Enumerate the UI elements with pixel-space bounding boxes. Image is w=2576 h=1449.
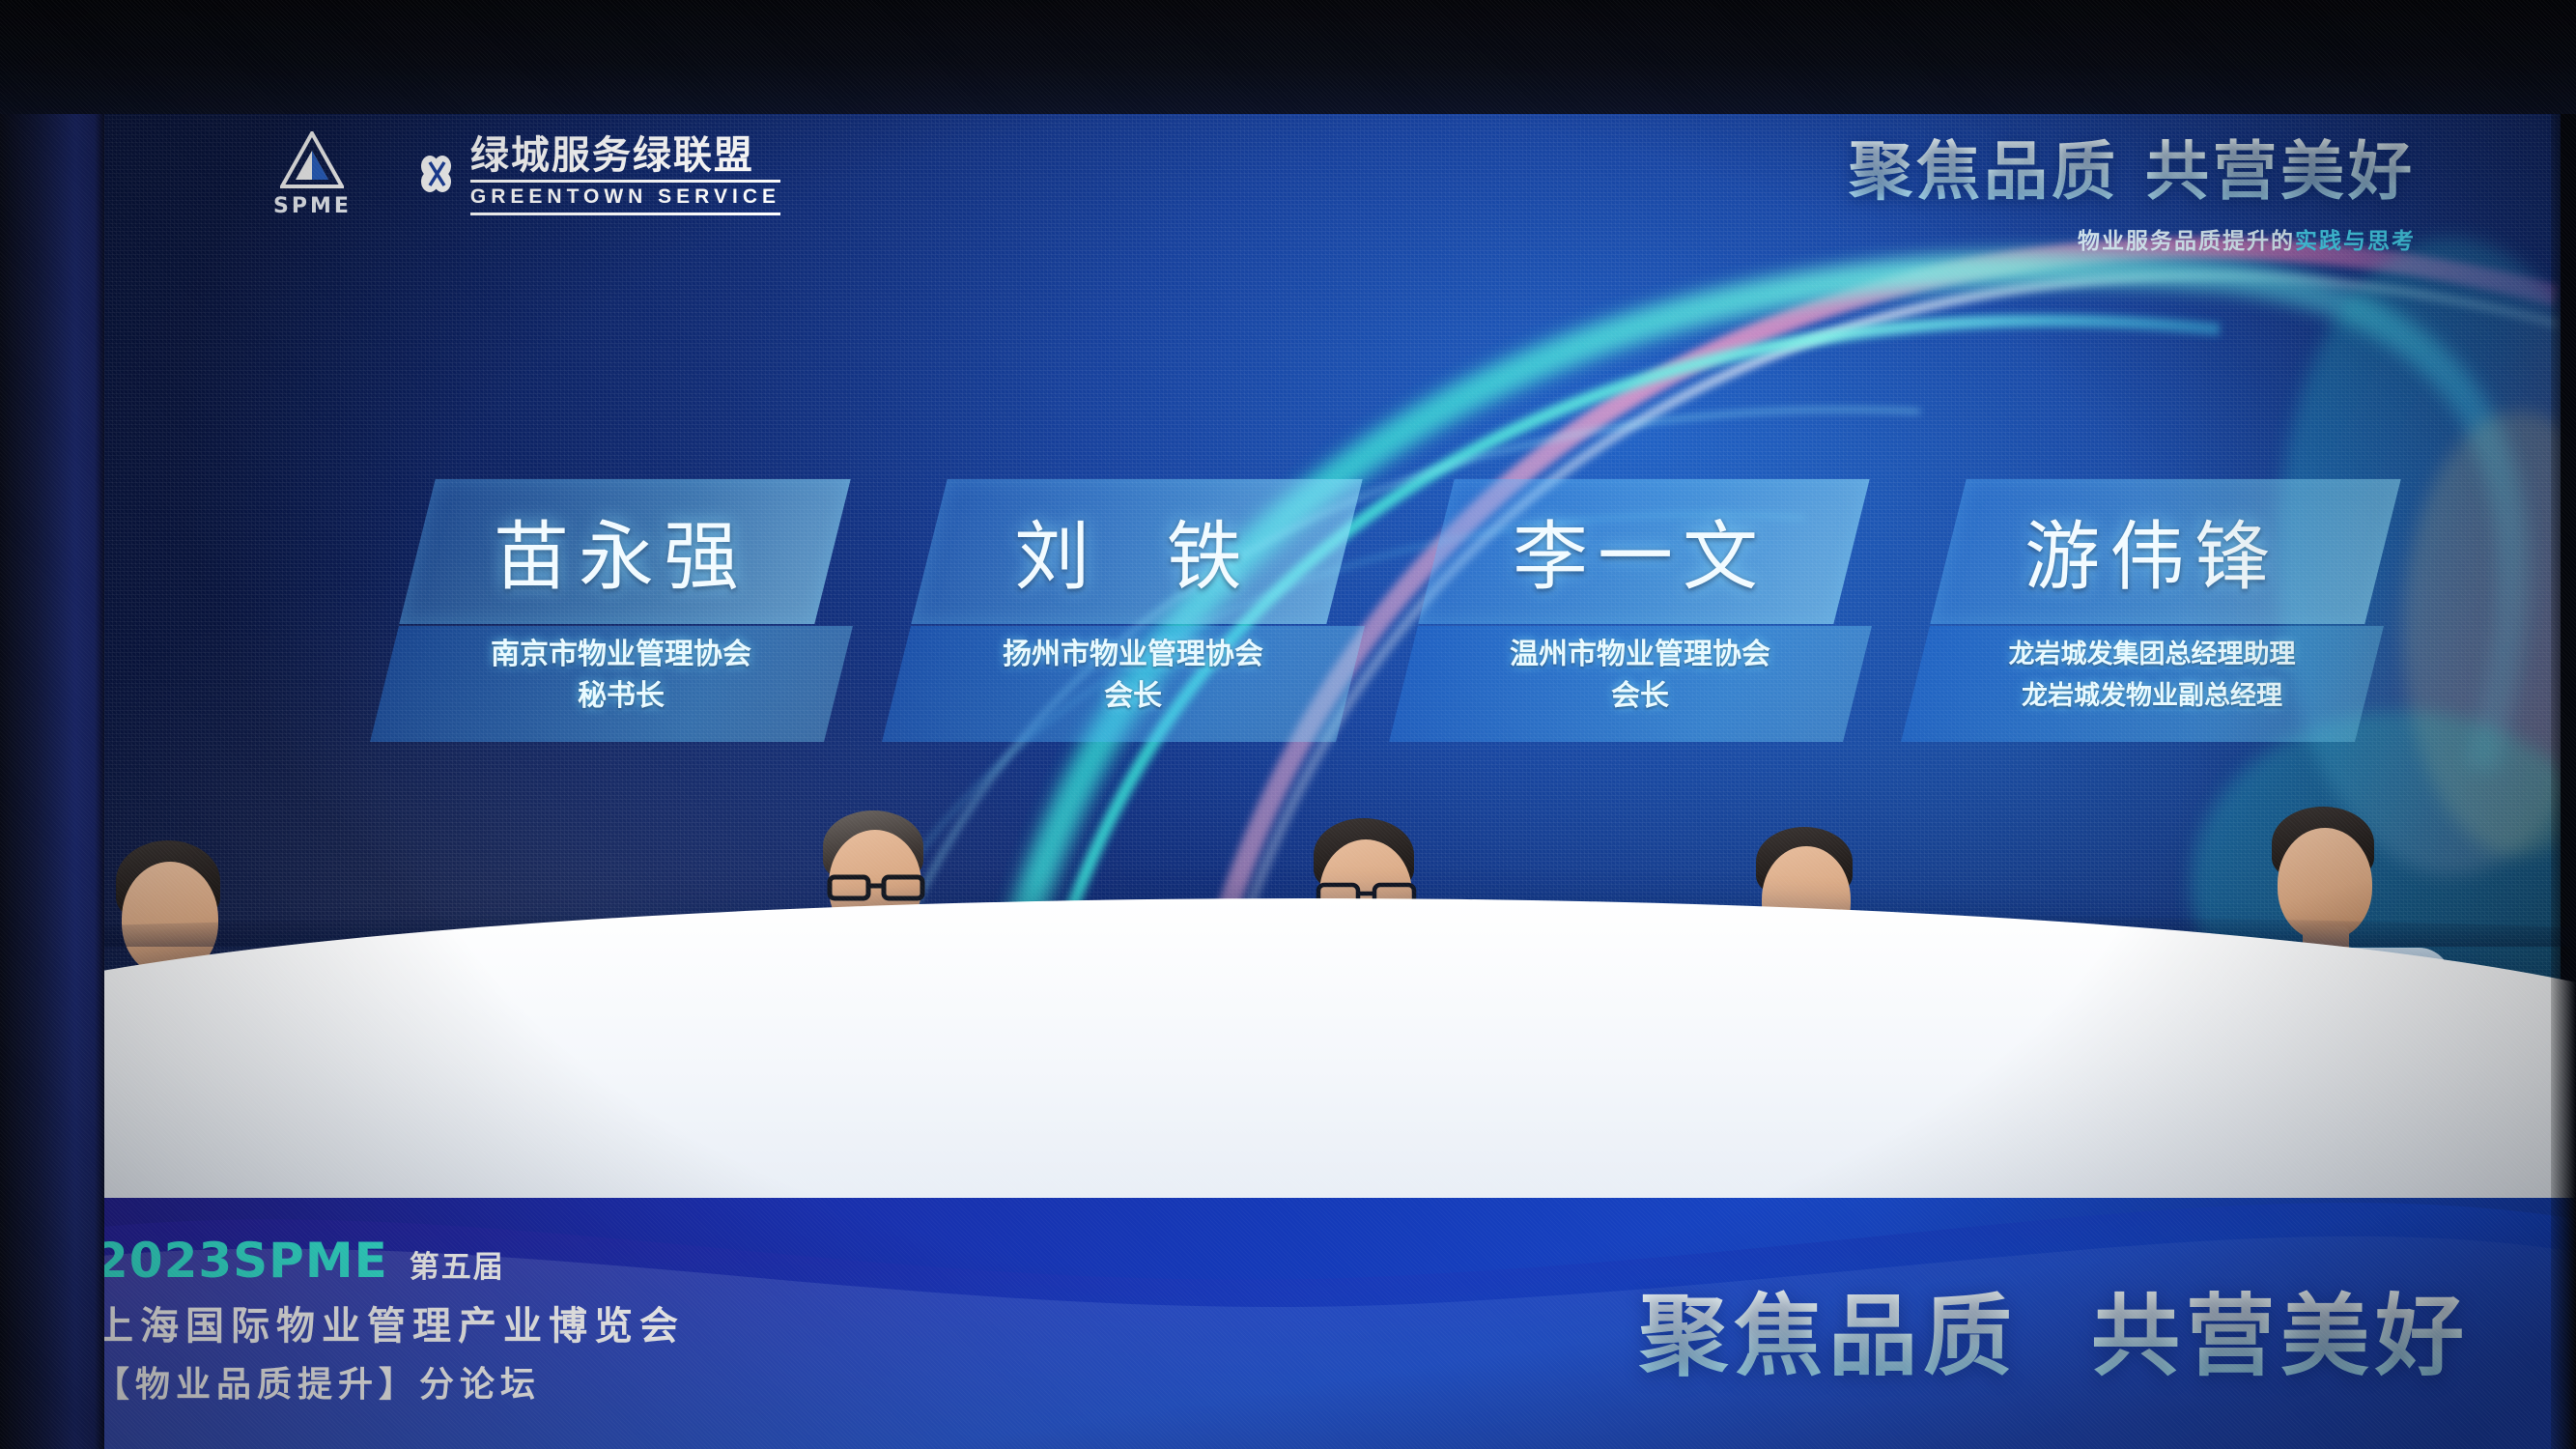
plate-org: 温州市物业管理协会 — [1413, 634, 1867, 675]
headline-sub-plain: 物业服务品质提升的 — [2078, 229, 2295, 254]
spme-logo: SPME — [273, 131, 352, 218]
forum-name: 【物业品质提升】分论坛 — [95, 1356, 685, 1406]
logo-lockup: SPME 绿城服务绿联盟 GREENTOWN SERVICE — [273, 131, 780, 218]
plate-role: 龙岩城发物业副总经理 — [1925, 675, 2379, 717]
banner-left-text: 2023SPME 第五届 上海国际物业管理产业博览会 【物业品质提升】分论坛 — [95, 1233, 685, 1406]
greentown-crescent-flower-icon — [384, 141, 458, 209]
room-left-pillar — [0, 0, 104, 1449]
plate-name: 李一文 — [1413, 493, 1867, 609]
headline-sub: 物业服务品质提升的实践与思考 — [1849, 222, 2416, 255]
panelist-plate: 苗永强 南京市物业管理协会 秘书长 — [394, 479, 848, 759]
headline-sub-accent: 实践与思考 — [2295, 229, 2416, 254]
plate-title: 南京市物业管理协会 秘书长 — [394, 634, 848, 717]
panelist-plate: 李一文 温州市物业管理协会 会长 — [1413, 479, 1867, 759]
banner-slogan: 聚焦品质 共营美好 — [1639, 1264, 2470, 1393]
led-headline: 聚焦品质 共营美好 物业服务品质提升的实践与思考 — [1849, 120, 2416, 255]
stage-photo: SPME 绿城服务绿联盟 GREENTOWN SERVICE — [0, 0, 2576, 1449]
plate-title: 龙岩城发集团总经理助理 龙岩城发物业副总经理 — [1925, 634, 2379, 717]
event-year-code: 2023SPME — [95, 1233, 388, 1289]
plate-org: 龙岩城发集团总经理助理 — [1925, 634, 2379, 675]
plate-role: 会长 — [1413, 675, 1867, 717]
plate-org: 南京市物业管理协会 — [394, 634, 848, 675]
plate-title: 扬州市物业管理协会 会长 — [906, 634, 1360, 717]
greentown-rule-bottom — [470, 213, 780, 215]
greentown-en-name: GREENTOWN SERVICE — [470, 185, 780, 209]
spme-wordmark: SPME — [273, 194, 352, 218]
plate-name: 苗永强 — [394, 493, 848, 609]
panelist-plate: 刘 铁 扬州市物业管理协会 会长 — [906, 479, 1360, 759]
plate-title: 温州市物业管理协会 会长 — [1413, 634, 1867, 717]
room-ceiling-shadow — [0, 0, 2576, 114]
panelist-plates: 苗永强 南京市物业管理协会 秘书长 刘 铁 扬州市物业管理协会 会长 李一文 — [394, 479, 2442, 769]
room-right-edge — [2551, 0, 2576, 1449]
greentown-cn-name: 绿城服务绿联盟 — [470, 135, 780, 176]
plate-role: 会长 — [906, 675, 1360, 717]
plate-name: 刘 铁 — [906, 493, 1360, 609]
panelist-plate: 游伟锋 龙岩城发集团总经理助理 龙岩城发物业副总经理 — [1925, 479, 2379, 759]
plate-name: 游伟锋 — [1925, 493, 2379, 609]
plate-org: 扬州市物业管理协会 — [906, 634, 1360, 675]
expo-name: 上海国际物业管理产业博览会 — [95, 1294, 685, 1350]
spme-triangle-icon — [280, 131, 344, 189]
greentown-logo: 绿城服务绿联盟 GREENTOWN SERVICE — [384, 135, 780, 215]
event-edition: 第五届 — [410, 1242, 505, 1286]
banner-left-row1: 2023SPME 第五届 — [95, 1233, 685, 1289]
headline-main: 聚焦品质 共营美好 — [1849, 120, 2416, 213]
greentown-rule-top — [470, 180, 780, 183]
plate-role: 秘书长 — [394, 675, 848, 717]
